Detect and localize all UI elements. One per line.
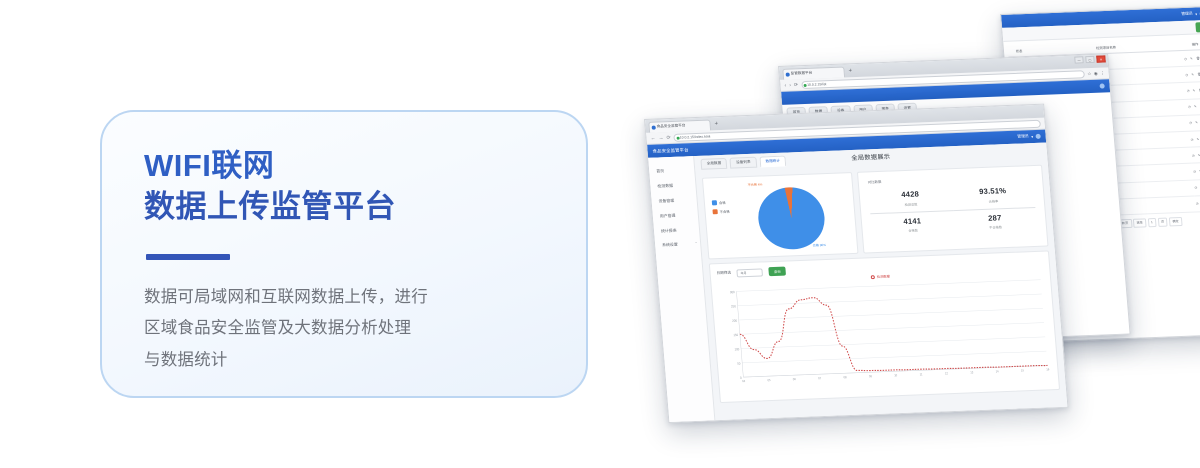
profile-icon[interactable]: ◉ [1094, 70, 1098, 76]
maximize-icon[interactable]: ▢ [1085, 56, 1095, 63]
sidebar-item-label: 用户管理 [660, 213, 676, 219]
gridline [736, 280, 1040, 292]
mid-window-user-menu[interactable] [1099, 83, 1104, 88]
row-actions[interactable]: ◷ ✎ 🗑 [1183, 49, 1200, 66]
x-tick-label: 06 [793, 377, 797, 381]
pie-legend-item-1[interactable]: 不合格 [712, 209, 729, 215]
browser-actions[interactable]: ☆ ◉ ⋮ [1087, 70, 1105, 77]
front-window-body: 首页检测数据设备管理用户管理统计报表系统设置 2020-04-13 09:12:… [648, 143, 1068, 423]
x-tick-label: 07 [818, 376, 822, 380]
legend-swatch-icon [712, 200, 717, 205]
x-tick-label: 13 [970, 370, 974, 374]
sidebar-item-label: 设备管理 [658, 198, 674, 204]
y-tick-label: 100 [734, 347, 739, 351]
row-actions[interactable]: ◷ ✎ 🗑 [1189, 130, 1200, 147]
pager-item-11[interactable]: 页 [1157, 217, 1168, 226]
line-chart-card: 日期筛选 本月 查询 检测数量 050100150200250300040506… [709, 250, 1060, 403]
back-icon[interactable]: ← [650, 135, 655, 141]
sidebar-item-label: 系统设置 [662, 242, 678, 248]
reload-icon[interactable]: ⟳ [666, 134, 671, 140]
pie-legend-item-0[interactable]: 合格 [712, 200, 729, 206]
new-tab-icon[interactable]: + [714, 119, 718, 130]
tab-2[interactable]: 数据统计 [759, 156, 786, 168]
tab-0[interactable]: 全局数据 [700, 158, 727, 170]
y-tick-label: 150 [733, 333, 738, 337]
y-tick-label: 200 [732, 319, 737, 323]
pie-chart-card: 合格不合格 不合格 4% 合格 96% [702, 172, 859, 259]
x-tick-label: 14 [995, 369, 999, 373]
legend-label: 检测数量 [877, 274, 891, 279]
page-title: 全局数据展示 [851, 152, 891, 162]
avatar [1099, 83, 1104, 88]
x-tick-label: 11 [920, 372, 924, 376]
star-icon[interactable]: ☆ [1087, 70, 1091, 76]
gridline [741, 337, 1045, 349]
main-content: 2020-04-13 09:12:45 全局数据设备列表数据统计 全局数据展示 … [694, 143, 1068, 423]
filter-label: 日期筛选 [716, 271, 731, 277]
pager-item-10[interactable]: 1 [1147, 218, 1156, 227]
stat-label: 合格率 [952, 196, 1035, 204]
column-status: 状态 [1008, 45, 1031, 57]
pager-item-9[interactable]: 跳至 [1133, 218, 1147, 227]
menu-icon[interactable]: ⋮ [1100, 70, 1105, 76]
row-actions[interactable]: ◷ ✎ 🗑 [1184, 66, 1200, 83]
tab-1[interactable]: 设备列表 [730, 157, 757, 169]
sidebar-item-5[interactable]: 系统设置 [655, 237, 701, 253]
x-tick-label: 04 [742, 379, 746, 383]
screenshot-mockups: 管理员 ▾ 状态 检测项目名称 操作 202 [0, 0, 1200, 468]
row-actions[interactable]: ◷ ✎ 🗑 [1194, 195, 1200, 212]
sidebar-item-label: 检测数据 [657, 183, 673, 189]
row-actions[interactable]: ◷ ✎ 🗑 [1188, 114, 1200, 131]
stat-label: 合格数 [872, 226, 955, 234]
line-chart-legend: 检测数量 [871, 274, 891, 280]
row-actions[interactable]: ◷ ✎ 🗑 [1186, 98, 1200, 115]
column-actions: 操作 [1182, 38, 1200, 50]
x-tick-label: 16 [1046, 367, 1050, 371]
back-icon[interactable]: ‹ [784, 82, 786, 88]
sidebar-item-label: 统计报表 [661, 227, 677, 233]
reload-icon[interactable]: ⟳ [794, 82, 799, 88]
row-actions[interactable]: ◷ ✎ 🗑 [1190, 146, 1200, 163]
front-window-user-menu[interactable]: 管理员 ▾ [1017, 134, 1041, 140]
pager-item-12[interactable]: 确定 [1169, 217, 1183, 226]
stat-cell: 4141 合格数 [870, 210, 955, 240]
minimize-icon[interactable]: — [1074, 56, 1084, 63]
stat-label: 不合格数 [954, 223, 1037, 231]
pie-chart: 不合格 4% 合格 96% [756, 186, 827, 250]
x-tick-label: 10 [894, 373, 898, 377]
x-tick-label: 05 [767, 378, 771, 382]
stat-label: 检测总数 [869, 200, 952, 208]
forward-icon[interactable]: › [789, 82, 791, 88]
pie-callout-large: 合格 96% [812, 242, 826, 247]
stat-value: 4141 [871, 215, 954, 227]
y-tick-label: 50 [737, 361, 741, 365]
x-tick-label: 08 [843, 375, 847, 379]
line-chart-plot: 0501001502002503000405060708091011121314… [722, 278, 1052, 390]
promo-banner: WIFI联网 数据上传监管平台 数据可局域网和互联网数据上传，进行 区域食品安全… [0, 0, 1200, 468]
legend-marker-icon [871, 275, 875, 279]
avatar [1035, 134, 1040, 139]
stats-card: 对比数据 4428 检测总数 93.51% 合格率 [857, 165, 1049, 254]
stat-cell: 4428 检测总数 [868, 184, 953, 213]
gridline [742, 351, 1046, 363]
chevron-down-icon: ▾ [1195, 11, 1197, 16]
x-tick-label: 12 [945, 371, 949, 375]
line-series [737, 289, 1047, 377]
stats-row-bottom: 4141 合格数 287 不合格数 [870, 206, 1037, 239]
x-tick-label: 15 [1021, 368, 1025, 372]
y-tick-label: 300 [730, 290, 735, 294]
pie-callout-small: 不合格 4% [747, 181, 762, 187]
pie-shape [756, 186, 827, 250]
stat-cell: 93.51% 合格率 [951, 181, 1036, 210]
close-icon[interactable]: ✕ [1096, 55, 1106, 62]
back-window-user-menu[interactable]: 管理员 ▾ [1181, 11, 1200, 17]
legend-label: 不合格 [719, 209, 729, 214]
x-tick-label: 09 [869, 374, 873, 378]
filter-input[interactable]: 本月 [737, 268, 764, 277]
stat-cell: 287 不合格数 [953, 206, 1038, 236]
gridline [738, 294, 1042, 306]
y-tick-label: 250 [731, 304, 736, 308]
back-window-user-label: 管理员 [1181, 12, 1193, 17]
row-actions[interactable]: ◷ ✎ 🗑 [1193, 179, 1200, 196]
front-window-brand: 食品安全监管平台 [652, 147, 688, 154]
sidebar-item-label: 首页 [656, 169, 664, 174]
gridline [740, 323, 1044, 335]
user-label: 管理员 [1017, 134, 1029, 139]
stat-value: 287 [953, 211, 1036, 223]
add-button[interactable] [1195, 22, 1200, 32]
window-controls[interactable]: — ▢ ✕ [1074, 55, 1106, 63]
front-window[interactable]: 食品安全监管平台 + ← → ⟳ 10.0.2.15/index.html 食品… [644, 104, 1069, 423]
legend-label: 合格 [719, 200, 726, 205]
row-actions[interactable]: ◷ ✎ 🗑 [1185, 82, 1200, 99]
legend-swatch-icon [712, 209, 717, 214]
stat-value: 4428 [869, 188, 952, 200]
new-tab-icon[interactable]: + [848, 66, 852, 77]
pie-legend: 合格不合格 [712, 200, 730, 219]
chevron-down-icon: ▾ [1031, 134, 1033, 139]
query-button[interactable]: 查询 [769, 267, 786, 277]
row-actions[interactable]: ◷ ✎ 🗑 [1192, 162, 1200, 179]
stat-value: 93.51% [951, 185, 1034, 197]
forward-icon[interactable]: → [658, 135, 663, 141]
